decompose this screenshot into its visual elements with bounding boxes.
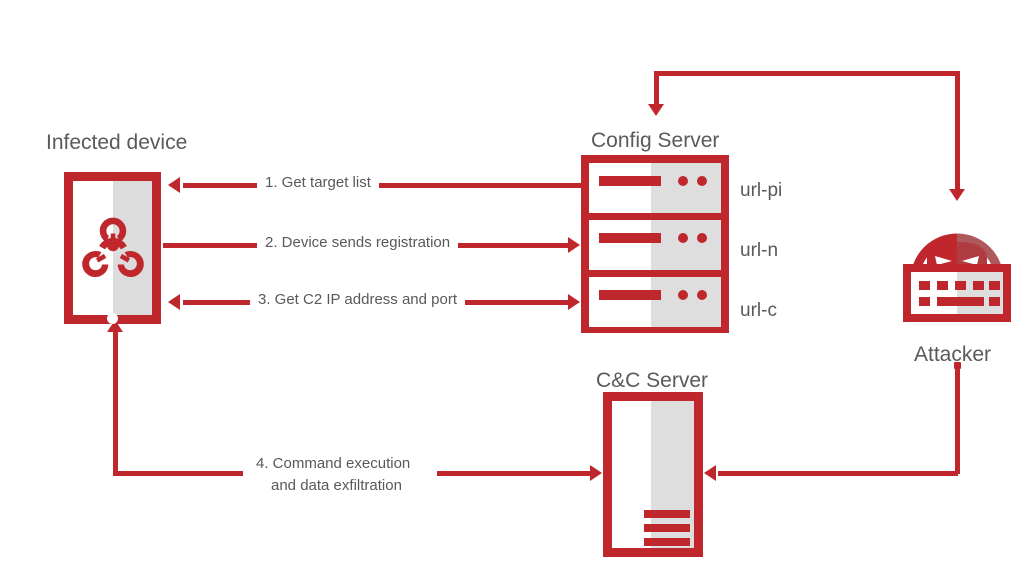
connector-step-4-right [437,471,597,476]
cnc-led-1 [694,510,702,518]
config-rack-2 [589,220,721,270]
cnc-bar-2 [644,524,690,532]
rack-led-2 [697,233,707,243]
phone-home-button [107,313,118,324]
url-label-n: url-n [740,239,778,263]
hacker-keyboard-icon[interactable] [893,200,1021,326]
arrowhead-step-2 [568,237,580,253]
connector-top-horizontal [654,71,960,76]
diagram-canvas: Infected device 1. Get target list 2. De… [0,0,1024,582]
arrowhead-to-config-server [648,104,664,116]
arrowhead-attacker-to-cnc [704,465,716,481]
cnc-server-node[interactable] [603,392,703,557]
cnc-led-2 [694,524,702,532]
url-label-c: url-c [740,299,777,323]
rack-face-right [651,163,721,213]
config-server-node[interactable] [581,155,729,333]
arrowhead-step-4-to-cnc [590,465,602,481]
connector-step-1 [183,183,583,188]
connector-attacker-to-cnc [718,471,958,476]
rack-face-left [589,220,651,270]
rack-face-right [651,277,721,327]
connector-top-right-vertical [955,71,960,192]
config-rack-3 [589,277,721,327]
step-4-label-line1: 4. Command execution [250,455,416,474]
rack-led-1 [678,233,688,243]
connector-step-4-left [113,471,243,476]
connector-attacker-vertical [955,364,960,474]
connector-top-left-vertical [654,71,659,107]
rack-bar [599,233,661,243]
rack-bar [599,176,661,186]
url-label-pi: url-pi [740,179,782,203]
config-rack-1 [589,163,721,213]
arrowhead-step-1 [168,177,180,193]
step-4-label-line2: and data exfiltration [265,477,408,496]
rack-face-left [589,163,651,213]
infected-device-label: Infected device [46,130,187,156]
config-server-label: Config Server [591,128,719,154]
arrowhead-step-3-target [568,294,580,310]
cnc-server-label: C&C Server [596,368,708,394]
cnc-bar-1 [644,510,690,518]
biohazard-icon [80,215,146,281]
step-2-label: 2. Device sends registration [257,234,458,253]
rack-led-2 [697,290,707,300]
rack-led-1 [678,290,688,300]
cnc-bar-3 [644,538,690,546]
attacker-label: Attacker [914,342,991,368]
cnc-led-3 [694,538,702,546]
arrowhead-step-3 [168,294,180,310]
rack-led-2 [697,176,707,186]
rack-face-right [651,220,721,270]
step-1-label: 1. Get target list [257,174,379,193]
step-3-label: 3. Get C2 IP address and port [250,291,465,310]
connector-step-4-vertical [113,330,118,473]
rack-face-left [589,277,651,327]
infected-device-node[interactable] [64,172,161,324]
rack-bar [599,290,661,300]
rack-led-1 [678,176,688,186]
